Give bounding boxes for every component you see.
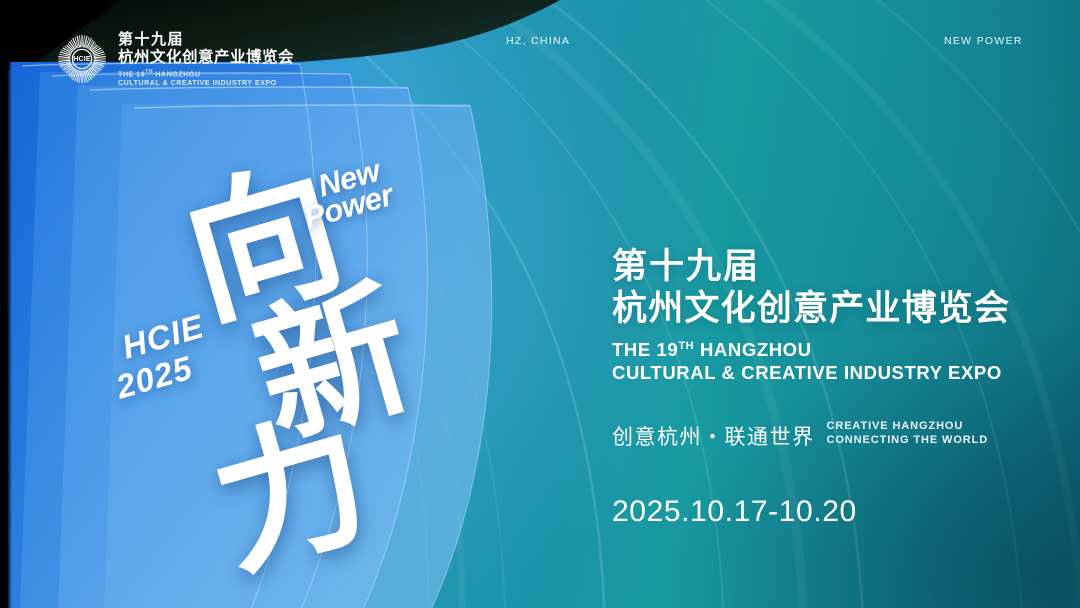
logo-en-line-1: THE 19TH HANGZHOU <box>118 70 294 78</box>
event-logo-lockup[interactable]: HCIE 第十九届 杭州文化创意产业博览会 THE 19TH HANGZHOU … <box>56 32 294 86</box>
logo-cn-line-1: 第十九届 <box>118 32 294 47</box>
event-title-cn-line-2: 杭州文化创意产业博览会 <box>612 289 1032 330</box>
event-tagline: 创意杭州・联通世界 CREATIVE HANGZHOU CONNECTING T… <box>612 419 1032 451</box>
kicker-slogan: NEW POWER <box>944 35 1023 47</box>
event-info-block: 第十九届 杭州文化创意产业博览会 THE 19TH HANGZHOU CULTU… <box>612 248 1032 529</box>
event-dates: 2025.10.17-10.20 <box>612 495 1032 529</box>
kicker-city: HZ, CHINA <box>506 35 570 47</box>
event-title-cn-line-1: 第十九届 <box>612 248 1032 287</box>
event-poster: HCIE 第十九届 杭州文化创意产业博览会 THE 19TH HANGZHOU … <box>0 0 1080 608</box>
logo-en-line-2: CULTURAL & CREATIVE INDUSTRY EXPO <box>118 79 294 86</box>
event-title-en-line-1: THE 19TH HANGZHOU <box>612 339 1032 362</box>
tagline-en-line-1: CREATIVE HANGZHOU <box>827 419 989 434</box>
background-left-edge <box>0 0 12 608</box>
logo-cn-line-2: 杭州文化创意产业博览会 <box>118 50 294 66</box>
event-logo-text: 第十九届 杭州文化创意产业博览会 THE 19TH HANGZHOU CULTU… <box>118 32 294 86</box>
event-title-en: THE 19TH HANGZHOU CULTURAL & CREATIVE IN… <box>612 339 1032 384</box>
tagline-en-line-2: CONNECTING THE WORLD <box>827 433 989 448</box>
event-title-en-line-2: CULTURAL & CREATIVE INDUSTRY EXPO <box>612 362 1032 385</box>
tagline-en: CREATIVE HANGZHOU CONNECTING THE WORLD <box>827 419 989 451</box>
svg-text:HCIE: HCIE <box>73 56 91 63</box>
tagline-cn: 创意杭州・联通世界 <box>612 421 815 451</box>
hcie-sunburst-logo-icon: HCIE <box>56 33 108 85</box>
